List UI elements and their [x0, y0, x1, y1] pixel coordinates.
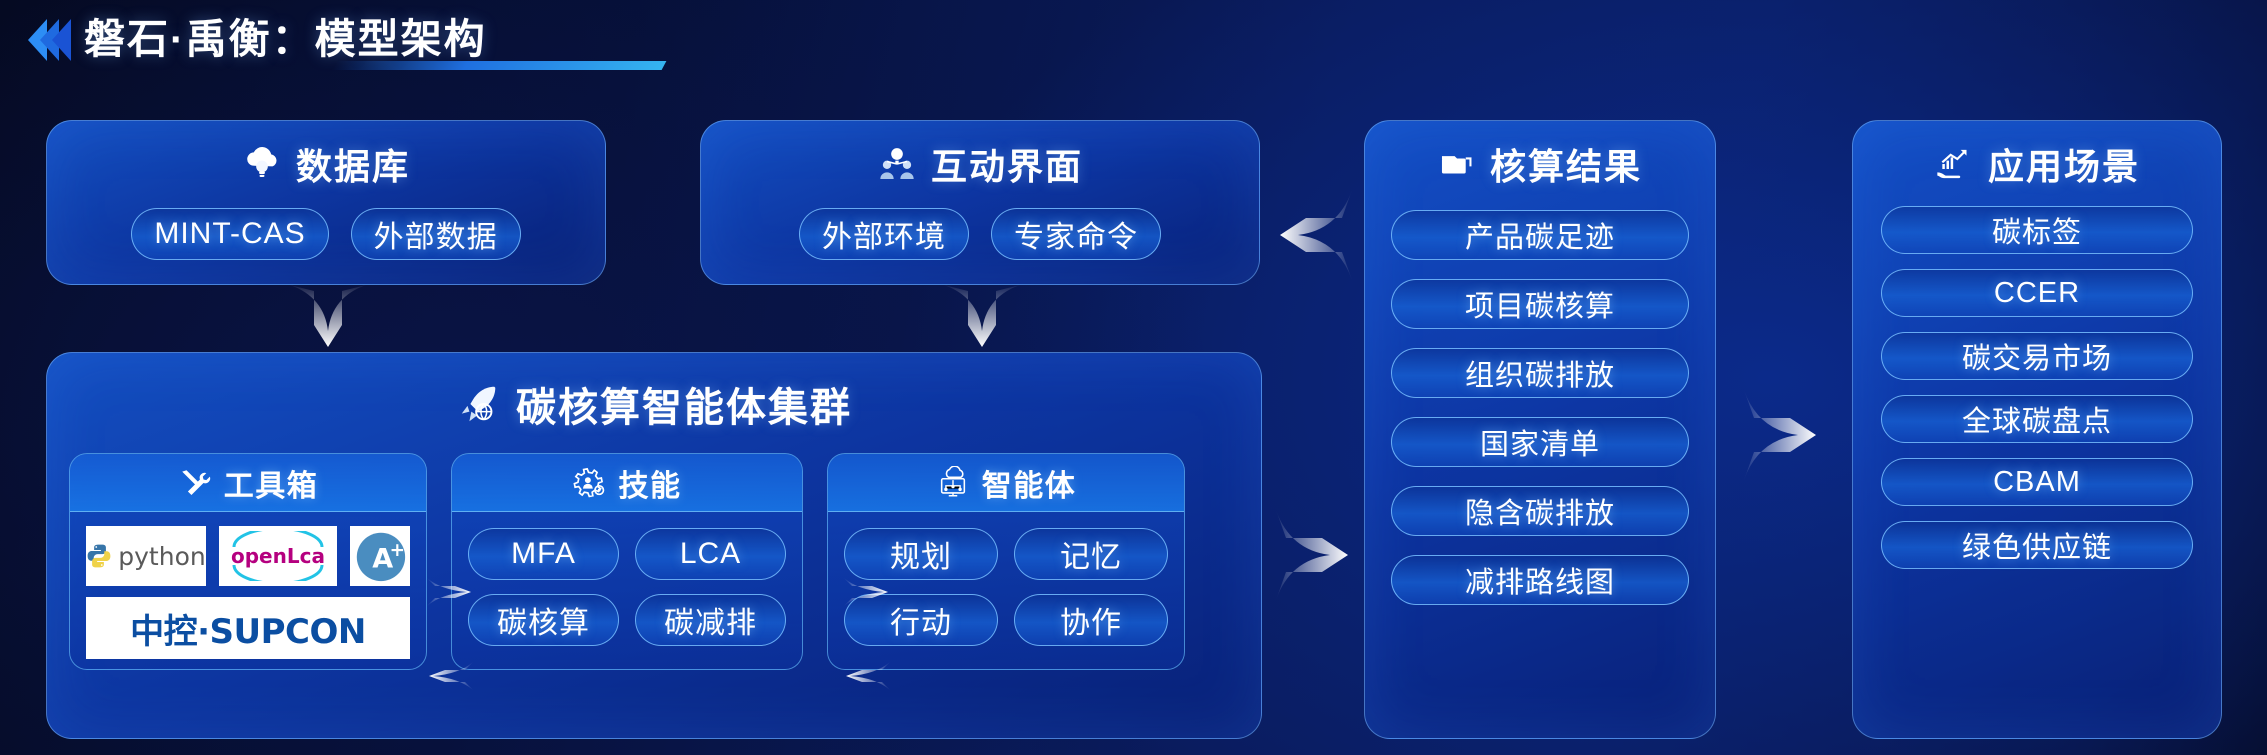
python-logo[interactable]: python [86, 526, 206, 586]
pill-national-inventory[interactable]: 国家清单 [1391, 417, 1689, 467]
cloud-database-icon [242, 144, 282, 184]
users-group-icon [877, 144, 917, 184]
arrow-results-to-scenes [1744, 390, 1820, 480]
pill-embodied-carbon-emission[interactable]: 隐含碳排放 [1391, 486, 1689, 536]
gear-person-icon [573, 466, 607, 500]
arrow-skill-to-toolbox [427, 658, 473, 694]
pill-external-data[interactable]: 外部数据 [351, 208, 521, 260]
pill-carbon-trading-market[interactable]: 碳交易市场 [1881, 332, 2193, 380]
toolbox-title: 工具箱 [224, 461, 319, 505]
pill-external-environment[interactable]: 外部环境 [799, 208, 969, 260]
supcon-logo[interactable]: 中控·SUPCON [86, 597, 410, 659]
openlca-logo[interactable]: openLca [219, 526, 337, 586]
pill-global-stocktake[interactable]: 全球碳盘点 [1881, 395, 2193, 443]
arrow-db-to-main [290, 285, 366, 355]
cloud-network-monitor-icon [936, 466, 970, 500]
interaction-interface-card: 互动界面 外部环境 专家命令 [700, 120, 1260, 285]
double-chevron-left-icon [28, 19, 64, 61]
folder-icon [1438, 145, 1476, 183]
arrow-agent-to-skill [844, 658, 890, 694]
pill-cbam[interactable]: CBAM [1881, 458, 2193, 506]
python-logo-text: python [118, 542, 205, 571]
supcon-logo-text: 中控·SUPCON [130, 604, 366, 653]
hand-chart-growth-icon [1934, 144, 1974, 184]
interaction-card-title: 互动界面 [931, 138, 1083, 190]
arrow-toolbox-to-skill [427, 574, 473, 610]
scenes-card-title: 应用场景 [1988, 138, 2140, 190]
wrench-tools-icon [178, 466, 212, 500]
pill-green-supply-chain[interactable]: 绿色供应链 [1881, 521, 2193, 569]
agent-title: 智能体 [982, 461, 1077, 505]
title-underline-decoration [332, 61, 667, 70]
accounting-results-card: 核算结果 产品碳足迹 项目碳核算 组织碳排放 国家清单 隐含碳排放 减排路线图 [1364, 120, 1716, 739]
pill-project-carbon-accounting[interactable]: 项目碳核算 [1391, 279, 1689, 329]
skills-subcard: 技能 MFA LCA 碳核算 碳减排 [451, 453, 803, 670]
arrow-main-to-results [1276, 510, 1352, 600]
pill-product-carbon-footprint[interactable]: 产品碳足迹 [1391, 210, 1689, 260]
results-card-title: 核算结果 [1490, 138, 1642, 190]
agent-subcard: 智能体 规划 记忆 行动 协作 [827, 453, 1185, 670]
skills-title: 技能 [619, 461, 682, 505]
page-header: 磐石·禹衡：模型架构 [28, 16, 487, 63]
database-card-title: 数据库 [296, 138, 410, 190]
application-scenarios-card: 应用场景 碳标签 CCER 碳交易市场 全球碳盘点 CBAM 绿色供应链 [1852, 120, 2222, 739]
pill-collaboration[interactable]: 协作 [1014, 594, 1168, 646]
agent-cluster-title: 碳核算智能体集群 [516, 375, 852, 433]
toolbox-subcard: 工具箱 python [69, 453, 427, 670]
arrow-skill-to-agent [844, 574, 890, 610]
openlca-logo-text: openLca [231, 544, 325, 568]
arrow-results-to-main [1276, 190, 1352, 280]
pill-mfa[interactable]: MFA [468, 528, 619, 580]
pill-carbon-label[interactable]: 碳标签 [1881, 206, 2193, 254]
pill-lca[interactable]: LCA [635, 528, 786, 580]
pill-planning[interactable]: 规划 [844, 528, 998, 580]
rocket-globe-icon [456, 381, 502, 427]
arrow-ui-to-main [944, 285, 1020, 355]
pill-memory[interactable]: 记忆 [1014, 528, 1168, 580]
pill-carbon-reduction[interactable]: 碳减排 [635, 594, 786, 646]
pill-ccer[interactable]: CCER [1881, 269, 2193, 317]
pill-organization-carbon-emission[interactable]: 组织碳排放 [1391, 348, 1689, 398]
pill-expert-command[interactable]: 专家命令 [991, 208, 1161, 260]
pill-carbon-accounting[interactable]: 碳核算 [468, 594, 619, 646]
aplus-logo[interactable]: A + [350, 526, 410, 586]
agent-cluster-card: 碳核算智能体集群 工具箱 [46, 352, 1262, 739]
database-card: 数据库 MINT-CAS 外部数据 [46, 120, 606, 285]
pill-emission-reduction-roadmap[interactable]: 减排路线图 [1391, 555, 1689, 605]
page-title: 磐石·禹衡：模型架构 [84, 16, 487, 63]
pill-mint-cas[interactable]: MINT-CAS [131, 208, 328, 260]
svg-text:+: + [390, 540, 405, 561]
